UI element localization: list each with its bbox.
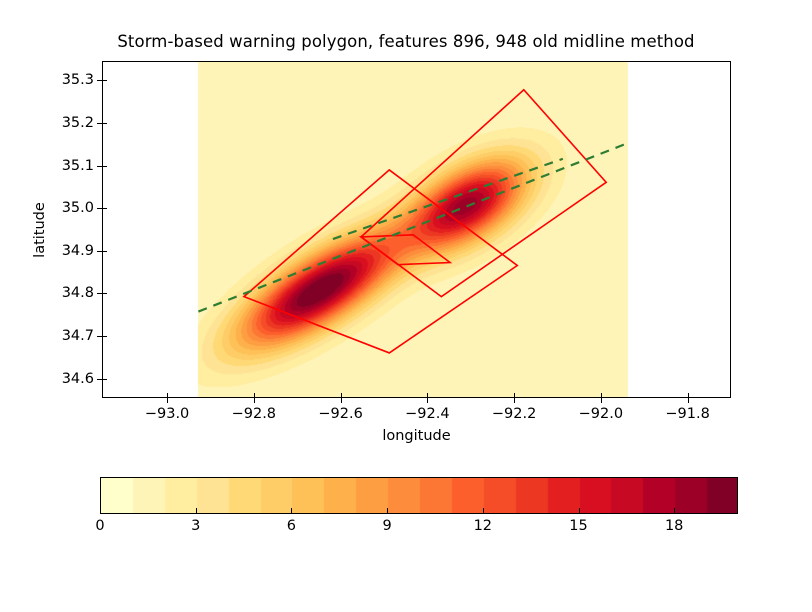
x-tick-label: −91.8 xyxy=(665,406,709,422)
y-tick-label: 34.8 xyxy=(50,285,94,301)
midline-896 xyxy=(198,143,627,312)
x-tick xyxy=(254,398,255,403)
y-tick-inner xyxy=(102,379,107,380)
x-tick xyxy=(427,398,428,403)
x-tick xyxy=(167,398,168,403)
colorbar-tick-label: 15 xyxy=(569,518,587,534)
colorbar-tick xyxy=(387,508,388,514)
warning-polygon-948 xyxy=(361,90,606,297)
colorbar-tick xyxy=(291,508,292,514)
y-axis-label: latitude xyxy=(32,202,48,258)
y-tick-inner xyxy=(102,123,107,124)
y-tick-label: 34.6 xyxy=(50,371,94,387)
y-tick-inner xyxy=(102,80,107,81)
colorbar-tick xyxy=(579,508,580,514)
colorbar-tick-label: 0 xyxy=(95,518,104,534)
colorbar-tick-label: 9 xyxy=(382,518,391,534)
y-tick-label: 35.3 xyxy=(50,72,94,88)
x-tick-label: −92.6 xyxy=(318,406,362,422)
polygon-overlay xyxy=(103,62,731,398)
x-tick xyxy=(341,398,342,403)
y-tick-label: 34.9 xyxy=(50,243,94,259)
y-tick-label: 34.7 xyxy=(50,328,94,344)
colorbar-tick-label: 6 xyxy=(287,518,296,534)
x-tick-inner xyxy=(688,393,689,398)
y-tick-label: 35.0 xyxy=(50,200,94,216)
x-tick-inner xyxy=(601,393,602,398)
x-tick-inner xyxy=(427,393,428,398)
x-tick-inner xyxy=(341,393,342,398)
x-axis-label: longitude xyxy=(102,428,731,444)
page-title: Storm-based warning polygon, features 89… xyxy=(0,32,812,51)
colorbar-tick xyxy=(674,508,675,514)
y-tick-label: 35.2 xyxy=(50,115,94,131)
figure-canvas: Storm-based warning polygon, features 89… xyxy=(0,0,812,612)
x-tick xyxy=(514,398,515,403)
y-tick-inner xyxy=(102,166,107,167)
x-tick xyxy=(601,398,602,403)
x-tick-label: −92.8 xyxy=(232,406,276,422)
colorbar-tick-label: 12 xyxy=(474,518,492,534)
x-tick-inner xyxy=(167,393,168,398)
x-tick-inner xyxy=(514,393,515,398)
colorbar-tick xyxy=(196,508,197,514)
main-plot-axes[interactable] xyxy=(102,61,731,398)
y-tick-label: 35.1 xyxy=(50,158,94,174)
x-tick-label: −93.0 xyxy=(145,406,189,422)
warning-polygon-896 xyxy=(244,170,517,353)
y-tick-inner xyxy=(102,293,107,294)
x-tick-label: −92.2 xyxy=(492,406,536,422)
x-tick xyxy=(688,398,689,403)
colorbar-tick xyxy=(483,508,484,514)
y-tick-inner xyxy=(102,208,107,209)
y-tick-inner xyxy=(102,251,107,252)
warning-polygon-midsmall xyxy=(361,235,450,265)
x-tick-label: −92.4 xyxy=(405,406,449,422)
x-tick-label: −92.0 xyxy=(579,406,623,422)
colorbar-tick-label: 18 xyxy=(665,518,683,534)
x-tick-inner xyxy=(254,393,255,398)
colorbar-tick-label: 3 xyxy=(191,518,200,534)
colorbar-tick xyxy=(100,508,101,514)
midline-948 xyxy=(333,159,563,239)
y-tick-inner xyxy=(102,336,107,337)
